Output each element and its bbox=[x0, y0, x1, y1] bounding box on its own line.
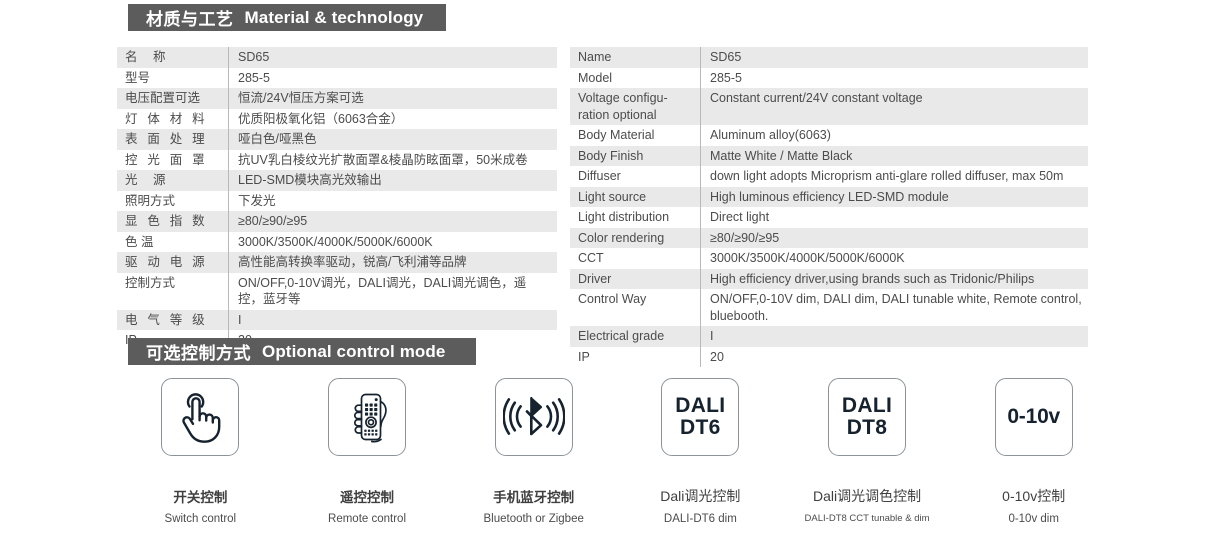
spec-value: 285-5 bbox=[701, 68, 1088, 89]
spec-value: 20 bbox=[701, 347, 1088, 368]
spec-row: Electrical gradeI bbox=[570, 326, 1088, 347]
spec-row: 灯 体 材 料优质阳极氧化铝（6063合金） bbox=[117, 109, 557, 130]
dali-label-line: DT8 bbox=[842, 417, 892, 439]
spec-value: 3000K/3500K/4000K/5000K/6000K bbox=[701, 248, 1088, 269]
control-mode-item[interactable]: 开关控制Switch control bbox=[117, 378, 284, 525]
bluetooth-wave-icon-glyph bbox=[503, 395, 565, 439]
spec-value: 3000K/3500K/4000K/5000K/6000K bbox=[229, 232, 557, 253]
section-header-control-mode: 可选控制方式 Optional control mode bbox=[128, 338, 476, 365]
spec-label: IP bbox=[570, 347, 700, 368]
spec-label: Diffuser bbox=[570, 166, 700, 187]
spec-value: ≥80/≥90/≥95 bbox=[701, 228, 1088, 249]
spec-label: 驱 动 电 源 bbox=[117, 252, 228, 273]
zero-to-ten-v-icon[interactable]: 0-10v bbox=[995, 378, 1073, 456]
spec-label: 型号 bbox=[117, 68, 228, 89]
control-mode-label-en: Switch control bbox=[165, 513, 237, 525]
spec-row: Control WayON/OFF,0-10V dim, DALI dim, D… bbox=[570, 289, 1088, 326]
spec-row: NameSD65 bbox=[570, 47, 1088, 68]
spec-label: Voltage configu-ration optional bbox=[570, 88, 700, 125]
spec-row: DriverHigh efficiency driver,using brand… bbox=[570, 269, 1088, 290]
spec-row: CCT3000K/3500K/4000K/5000K/6000K bbox=[570, 248, 1088, 269]
control-mode-label-en: 0-10v dim bbox=[1008, 513, 1059, 525]
spec-label: Electrical grade bbox=[570, 326, 700, 347]
spec-row: 色 温3000K/3500K/4000K/5000K/6000K bbox=[117, 232, 557, 253]
spec-label: 名 称 bbox=[117, 47, 228, 68]
spec-label: 照明方式 bbox=[117, 191, 228, 212]
control-mode-label-cn: Dali调光调色控制 bbox=[813, 486, 921, 506]
bluetooth-wave-icon[interactable] bbox=[495, 378, 573, 456]
control-mode-item[interactable]: DALIDT8Dali调光调色控制DALI-DT8 CCT tunable & … bbox=[784, 378, 951, 524]
section-header-control-cn: 可选控制方式 bbox=[146, 339, 251, 364]
dali-dt8-icon[interactable]: DALIDT8 bbox=[828, 378, 906, 456]
touch-hand-icon[interactable] bbox=[161, 378, 239, 456]
spec-label: CCT bbox=[570, 248, 700, 269]
section-header-material-cn: 材质与工艺 bbox=[146, 5, 234, 30]
spec-row: Body MaterialAluminum alloy(6063) bbox=[570, 125, 1088, 146]
spec-value: ≥80/≥90/≥95 bbox=[229, 211, 557, 232]
control-mode-item[interactable]: 0-10v0-10v控制0-10v dim bbox=[950, 378, 1117, 525]
spec-table-english: NameSD65Model285-5Voltage configu-ration… bbox=[570, 47, 1088, 367]
control-mode-item[interactable]: 手机蓝牙控制Bluetooth or Zigbee bbox=[450, 378, 617, 525]
spec-row: 名 称SD65 bbox=[117, 47, 557, 68]
control-mode-item[interactable]: 遥控控制Remote control bbox=[284, 378, 451, 525]
spec-value: down light adopts Microprism anti-glare … bbox=[701, 166, 1088, 187]
spec-label: 控 光 面 罩 bbox=[117, 150, 228, 171]
spec-value: 优质阳极氧化铝（6063合金） bbox=[229, 109, 557, 130]
spec-label: Name bbox=[570, 47, 700, 68]
spec-label: Body Finish bbox=[570, 146, 700, 167]
spec-row: 光 源LED-SMD模块高光效输出 bbox=[117, 170, 557, 191]
spec-label: Model bbox=[570, 68, 700, 89]
spec-value: 抗UV乳白棱纹光扩散面罩&棱晶防眩面罩，50米成卷 bbox=[229, 150, 557, 171]
spec-row: Light sourceHigh luminous efficiency LED… bbox=[570, 187, 1088, 208]
section-header-material: 材质与工艺 Material & technology bbox=[128, 4, 446, 31]
spec-label: 光 源 bbox=[117, 170, 228, 191]
spec-value: SD65 bbox=[229, 47, 557, 68]
spec-label: 电压配置可选 bbox=[117, 88, 228, 109]
spec-row: Body FinishMatte White / Matte Black bbox=[570, 146, 1088, 167]
spec-value: 恒流/24V恒压方案可选 bbox=[229, 88, 557, 109]
spec-label: 显 色 指 数 bbox=[117, 211, 228, 232]
voltage-label: 0-10v bbox=[1007, 405, 1060, 429]
spec-row: Diffuserdown light adopts Microprism ant… bbox=[570, 166, 1088, 187]
spec-row: 照明方式下发光 bbox=[117, 191, 557, 212]
spec-row: 控制方式ON/OFF,0-10V调光，DALI调光，DALI调光调色，遥控，蓝牙… bbox=[117, 273, 557, 310]
dali-dt6-icon[interactable]: DALIDT6 bbox=[661, 378, 739, 456]
control-mode-label-en: DALI-DT6 dim bbox=[664, 513, 737, 525]
spec-label: 控制方式 bbox=[117, 273, 228, 294]
control-mode-item[interactable]: DALIDT6Dali调光控制DALI-DT6 dim bbox=[617, 378, 784, 525]
spec-row: 控 光 面 罩抗UV乳白棱纹光扩散面罩&棱晶防眩面罩，50米成卷 bbox=[117, 150, 557, 171]
spec-value: Aluminum alloy(6063) bbox=[701, 125, 1088, 146]
spec-label: Light distribution bbox=[570, 207, 700, 228]
spec-label: 灯 体 材 料 bbox=[117, 109, 228, 130]
remote-control-icon-glyph bbox=[339, 389, 395, 445]
spec-value: Matte White / Matte Black bbox=[701, 146, 1088, 167]
control-mode-label-cn: 开关控制 bbox=[173, 486, 227, 506]
spec-value: Direct light bbox=[701, 207, 1088, 228]
remote-control-icon[interactable] bbox=[328, 378, 406, 456]
control-mode-label-cn: 手机蓝牙控制 bbox=[493, 486, 574, 506]
spec-row: Color rendering≥80/≥90/≥95 bbox=[570, 228, 1088, 249]
spec-label: 电 气 等 级 bbox=[117, 310, 228, 331]
spec-value: ON/OFF,0-10V调光，DALI调光，DALI调光调色，遥控，蓝牙等 bbox=[229, 273, 557, 310]
spec-row: 表 面 处 理哑白色/哑黑色 bbox=[117, 129, 557, 150]
control-mode-label-cn: 遥控控制 bbox=[340, 486, 394, 506]
spec-row: 电压配置可选恒流/24V恒压方案可选 bbox=[117, 88, 557, 109]
spec-value: I bbox=[701, 326, 1088, 347]
spec-value: SD65 bbox=[701, 47, 1088, 68]
spec-row: 型号285-5 bbox=[117, 68, 557, 89]
spec-value: 下发光 bbox=[229, 191, 557, 212]
section-header-material-en: Material & technology bbox=[245, 8, 424, 28]
control-mode-label-cn: 0-10v控制 bbox=[1002, 486, 1065, 506]
spec-label: Color rendering bbox=[570, 228, 700, 249]
control-mode-label-cn: Dali调光控制 bbox=[660, 486, 740, 506]
control-mode-label-en: Remote control bbox=[328, 513, 406, 525]
spec-row: Light distributionDirect light bbox=[570, 207, 1088, 228]
dali-label: DALIDT8 bbox=[842, 395, 892, 440]
spec-row: Model285-5 bbox=[570, 68, 1088, 89]
touch-hand-icon-glyph bbox=[175, 390, 225, 444]
control-mode-list: 开关控制Switch control bbox=[117, 378, 1117, 528]
spec-row: IP20 bbox=[570, 347, 1088, 368]
spec-label: Light source bbox=[570, 187, 700, 208]
spec-table-chinese: 名 称SD65型号285-5电压配置可选恒流/24V恒压方案可选灯 体 材 料优… bbox=[117, 47, 557, 351]
spec-value: ON/OFF,0-10V dim, DALI dim, DALI tunable… bbox=[701, 289, 1088, 326]
spec-label: Driver bbox=[570, 269, 700, 290]
spec-value: High efficiency driver,using brands such… bbox=[701, 269, 1088, 290]
dali-label-line: DALI bbox=[842, 395, 892, 417]
spec-label: 色 温 bbox=[117, 232, 228, 253]
spec-row: 电 气 等 级I bbox=[117, 310, 557, 331]
spec-value: LED-SMD模块高光效输出 bbox=[229, 170, 557, 191]
spec-label: Control Way bbox=[570, 289, 700, 310]
dali-label-line: DALI bbox=[675, 395, 725, 417]
spec-value: Constant current/24V constant voltage bbox=[701, 88, 1088, 109]
dali-label: DALIDT6 bbox=[675, 395, 725, 440]
spec-row: 驱 动 电 源高性能高转换率驱动，锐高/飞利浦等品牌 bbox=[117, 252, 557, 273]
control-mode-label-en: DALI-DT8 CCT tunable & dim bbox=[805, 513, 930, 524]
spec-value: 285-5 bbox=[229, 68, 557, 89]
spec-row: Voltage configu-ration optionalConstant … bbox=[570, 88, 1088, 125]
dali-label-line: DT6 bbox=[675, 417, 725, 439]
section-header-control-en: Optional control mode bbox=[262, 342, 445, 362]
spec-value: 高性能高转换率驱动，锐高/飞利浦等品牌 bbox=[229, 252, 557, 273]
spec-value: I bbox=[229, 310, 557, 331]
spec-row: 显 色 指 数≥80/≥90/≥95 bbox=[117, 211, 557, 232]
spec-label: Body Material bbox=[570, 125, 700, 146]
spec-label: 表 面 处 理 bbox=[117, 129, 228, 150]
spec-value: 哑白色/哑黑色 bbox=[229, 129, 557, 150]
control-mode-label-en: Bluetooth or Zigbee bbox=[483, 513, 583, 525]
spec-value: High luminous efficiency LED-SMD module bbox=[701, 187, 1088, 208]
